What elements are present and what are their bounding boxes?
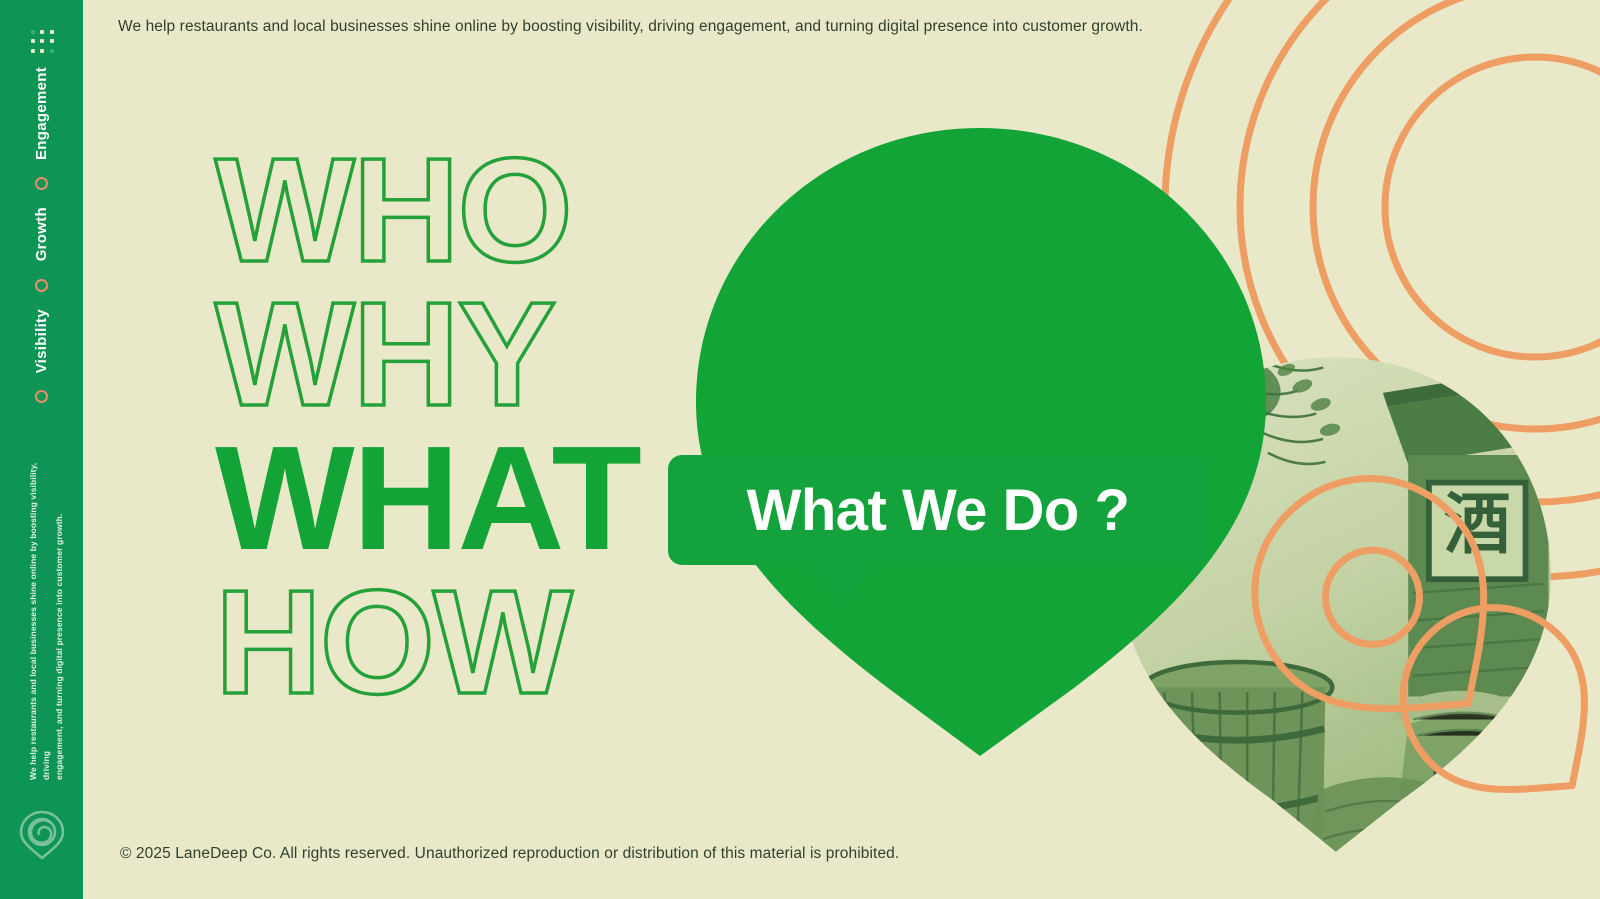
nav-dot-engagement (35, 177, 48, 190)
speech-bubble-label: What We Do ? (668, 455, 1208, 565)
nav-dot-growth (35, 279, 48, 292)
footer-copyright: © 2025 LaneDeep Co. All rights reserved.… (120, 845, 899, 863)
grid-dots-icon[interactable] (31, 30, 55, 54)
headline-stack: WHO WHY WHAT HOW (215, 140, 640, 716)
location-pin-spiral-logo-icon[interactable] (18, 809, 66, 861)
headline-line-how: HOW (215, 572, 640, 716)
headline-line-why: WHY (215, 284, 640, 428)
headline-line-who: WHO (215, 140, 640, 284)
sidebar-paragraph-line-2: engagement, and turning digital presence… (53, 440, 66, 780)
header-tagline: We help restaurants and local businesses… (118, 18, 1143, 36)
sidebar-item-engagement[interactable]: Engagement (33, 67, 50, 160)
sidebar: Visibility Growth Engagement We help res… (0, 0, 83, 899)
sidebar-nav: Visibility Growth Engagement (0, 75, 83, 420)
headline-line-what: WHAT (215, 428, 640, 572)
page-stage: 酒 (0, 0, 1600, 899)
sidebar-item-growth[interactable]: Growth (33, 207, 50, 261)
speech-bubble-tail (806, 563, 878, 605)
main-location-pin (670, 108, 1290, 768)
sidebar-item-visibility[interactable]: Visibility (33, 309, 50, 373)
sidebar-paragraph-line-1: We help restaurants and local businesses… (27, 440, 53, 780)
nav-dot-visibility (35, 390, 48, 403)
sidebar-vertical-paragraph: We help restaurants and local businesses… (27, 440, 66, 780)
